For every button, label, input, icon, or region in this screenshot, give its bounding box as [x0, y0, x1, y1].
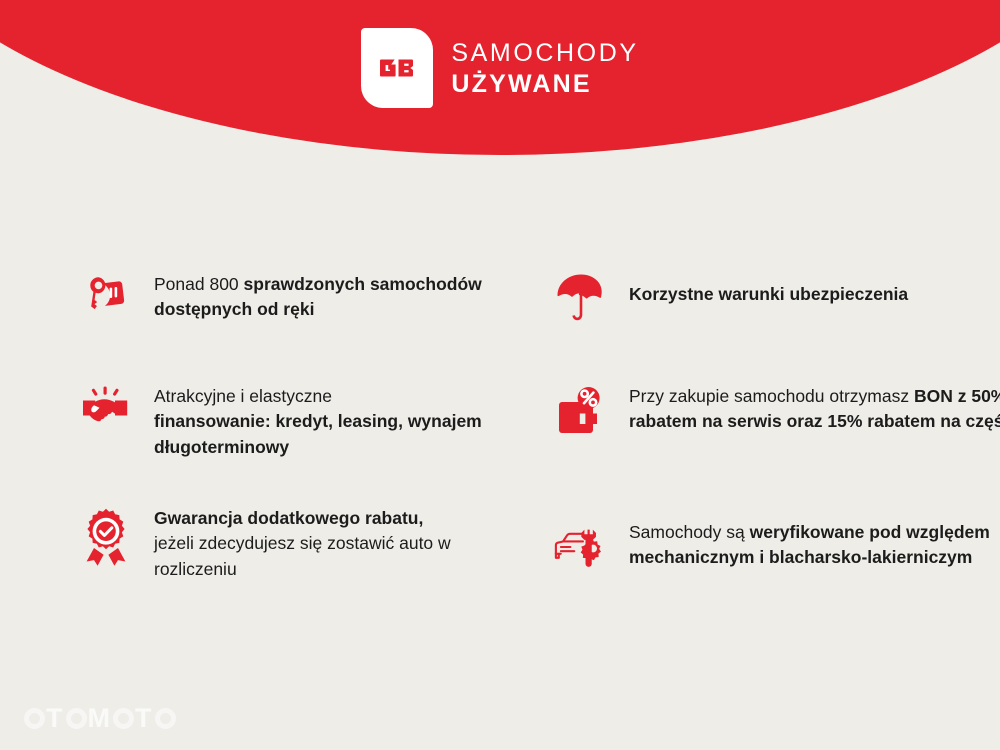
feature-item-financing: Atrakcyjne i elastyczne finansowanie: kr…	[78, 382, 533, 504]
watermark-t-1: T	[46, 703, 65, 734]
feature-bold-financing: finansowanie: kredyt, leasing, wynajem d…	[154, 411, 482, 456]
feature-text-guarantee: Gwarancja dodatkowego rabatu, jeżeli zde…	[154, 504, 533, 582]
feature-item-voucher: Przy zakupie samochodu otrzymasz BON z 5…	[553, 382, 1000, 518]
feature-text-financing: Atrakcyjne i elastyczne finansowanie: kr…	[154, 382, 533, 460]
feature-plain-guarantee: jeżeli zdecydujesz się zostawić auto w r…	[154, 533, 451, 578]
watermark-o-4	[155, 708, 176, 729]
feature-bold-insurance: Korzystne warunki ubezpieczenia	[629, 284, 908, 304]
brand-line-2: UŻYWANE	[451, 72, 638, 97]
gb-logo-mark	[361, 28, 433, 108]
feature-plain-stock: Ponad 800	[154, 274, 244, 294]
car-service-icon	[553, 518, 609, 572]
feature-text-inspection: Samochody są weryfikowane pod względem m…	[629, 518, 1000, 571]
otomoto-watermark: T M T	[24, 703, 176, 734]
wallet-percent-icon	[553, 382, 609, 438]
award-badge-icon	[78, 504, 134, 566]
brand-lockup: SAMOCHODY UŻYWANE	[361, 28, 638, 108]
watermark-o-1	[24, 708, 45, 729]
feature-grid: Ponad 800 sprawdzonych samochodów dostęp…	[0, 270, 1000, 582]
feature-column-left: Ponad 800 sprawdzonych samochodów dostęp…	[78, 270, 533, 582]
watermark-m: M	[88, 703, 113, 734]
feature-plain-voucher: Przy zakupie samochodu otrzymasz	[629, 386, 914, 406]
feature-item-guarantee: Gwarancja dodatkowego rabatu, jeżeli zde…	[78, 504, 533, 582]
brand-wordmark: SAMOCHODY UŻYWANE	[451, 39, 638, 97]
feature-bold-guarantee: Gwarancja dodatkowego rabatu,	[154, 508, 423, 528]
feature-text-voucher: Przy zakupie samochodu otrzymasz BON z 5…	[629, 382, 1000, 435]
watermark-o-3	[113, 708, 134, 729]
feature-item-insurance: Korzystne warunki ubezpieczenia	[553, 270, 1000, 382]
watermark-o-2	[66, 708, 87, 729]
feature-item-stock: Ponad 800 sprawdzonych samochodów dostęp…	[78, 270, 533, 382]
feature-text-stock: Ponad 800 sprawdzonych samochodów dostęp…	[154, 270, 533, 323]
gb-logo-icon	[373, 53, 421, 83]
car-key-icon	[78, 270, 134, 318]
header-banner: SAMOCHODY UŻYWANE	[0, 0, 1000, 160]
umbrella-icon	[553, 270, 609, 326]
feature-item-inspection: Samochody są weryfikowane pod względem m…	[553, 518, 1000, 572]
feature-column-right: Korzystne warunki ubezpieczenia	[553, 270, 1000, 582]
feature-plain-inspection: Samochody są	[629, 522, 750, 542]
feature-text-insurance: Korzystne warunki ubezpieczenia	[629, 270, 908, 307]
brand-line-1: SAMOCHODY	[451, 41, 638, 66]
watermark-t-2: T	[135, 703, 154, 734]
handshake-icon	[78, 382, 134, 430]
feature-plain-financing: Atrakcyjne i elastyczne	[154, 386, 332, 406]
